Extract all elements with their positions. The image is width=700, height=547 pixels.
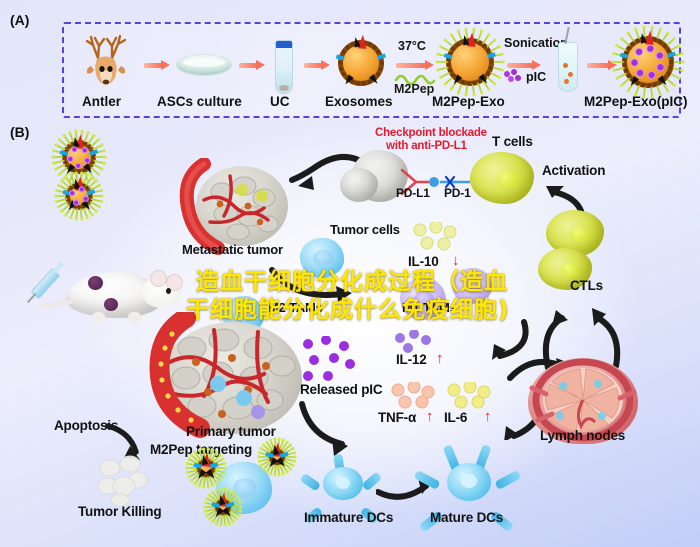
label-checkpoint-line1: Checkpoint blockade	[375, 127, 487, 139]
exosome-particle-icon	[62, 140, 96, 174]
arrow-antler-to-culture	[144, 60, 170, 70]
watermark-line2: 干细胞能分化成什么免疫细胞)	[186, 290, 510, 324]
label-activation: Activation	[542, 163, 605, 178]
label-t-cells: T cells	[492, 134, 533, 149]
panel-a-label-antler: Antler	[82, 94, 121, 109]
exosome-particle-icon	[65, 182, 93, 210]
exosome-icon	[338, 40, 384, 86]
label-pd1: PD-1	[444, 186, 471, 200]
label-il12-arrow: ↑	[436, 350, 443, 367]
label-immature-dcs: Immature DCs	[304, 510, 393, 525]
immature-dc-icon	[308, 452, 378, 514]
exosome-particle-icon	[214, 498, 232, 516]
panel-a-annotation-pic: pIC	[526, 70, 546, 84]
t-cell-icon	[470, 152, 534, 204]
centrifuge-tube-icon	[275, 40, 293, 94]
label-il12: IL-12	[396, 352, 427, 367]
panel-a-label-uc: UC	[270, 94, 290, 109]
dying-tumor-cell-icon	[92, 452, 152, 506]
label-tnfa-arrow: ↑	[426, 408, 433, 425]
deer-icon	[78, 32, 136, 90]
label-mature-dcs: Mature DCs	[430, 510, 503, 525]
mature-dc-icon	[430, 446, 508, 516]
arrow-uc-to-exosomes	[304, 60, 330, 70]
sonication-tube-icon	[558, 42, 578, 92]
il10-cytokine-dots	[410, 222, 464, 254]
panel-a-label-m2pepexo: M2Pep-Exo	[432, 94, 505, 109]
panel-a-label-final: M2Pep-Exo(pIC)	[584, 94, 688, 109]
label-tumor-killing: Tumor Killing	[78, 504, 161, 519]
panel-a-annotation-temp: 37°C	[398, 39, 426, 53]
il12-pic-dots	[392, 330, 436, 354]
label-lymph-nodes: Lymph nodes	[540, 428, 625, 443]
petri-dish-icon	[176, 54, 232, 76]
label-released-pic: Released pIC	[300, 382, 382, 397]
label-checkpoint-line2: with anti-PD-L1	[386, 140, 467, 152]
label-tnfa: TNF-α	[378, 410, 416, 425]
label-il6-arrow: ↑	[484, 408, 491, 425]
loaded-exosome-icon	[622, 36, 674, 88]
label-metastatic-tumor: Metastatic tumor	[182, 242, 283, 257]
blood-vessel-primary-icon	[146, 312, 306, 442]
arrow-culture-to-uc	[239, 60, 265, 70]
label-ctls: CTLs	[570, 278, 603, 293]
peptide-exosome-icon	[446, 38, 494, 86]
panel-a-label-asc: ASCs culture	[157, 94, 242, 109]
arrow-exosome-to-m2pep	[396, 60, 434, 70]
label-primary-tumor: Primary tumor	[186, 424, 276, 439]
panel-a-annotation-m2pep: M2Pep	[394, 82, 434, 96]
exosome-particle-icon	[196, 458, 216, 478]
label-tumor-cells: Tumor cells	[330, 222, 400, 237]
panel-a-label-exosomes: Exosomes	[325, 94, 393, 109]
arrow-sonication-to-final	[587, 60, 617, 70]
label-il6: IL-6	[444, 410, 467, 425]
panel-a-box: Antler ASCs culture UC Exosomes 37°C M2P…	[62, 22, 681, 118]
panel-a-tag: (A)	[10, 12, 29, 28]
panel-b-tag: (B)	[10, 124, 29, 140]
pic-cluster-icon	[502, 68, 524, 84]
released-pic-dots	[300, 336, 360, 386]
exosome-particle-icon	[268, 448, 286, 466]
figure-canvas: (A) Antler ASCs culture	[0, 0, 700, 547]
label-m2pep-targeting: M2Pep targeting	[150, 442, 252, 457]
label-pdl1: PD-L1	[396, 186, 430, 200]
